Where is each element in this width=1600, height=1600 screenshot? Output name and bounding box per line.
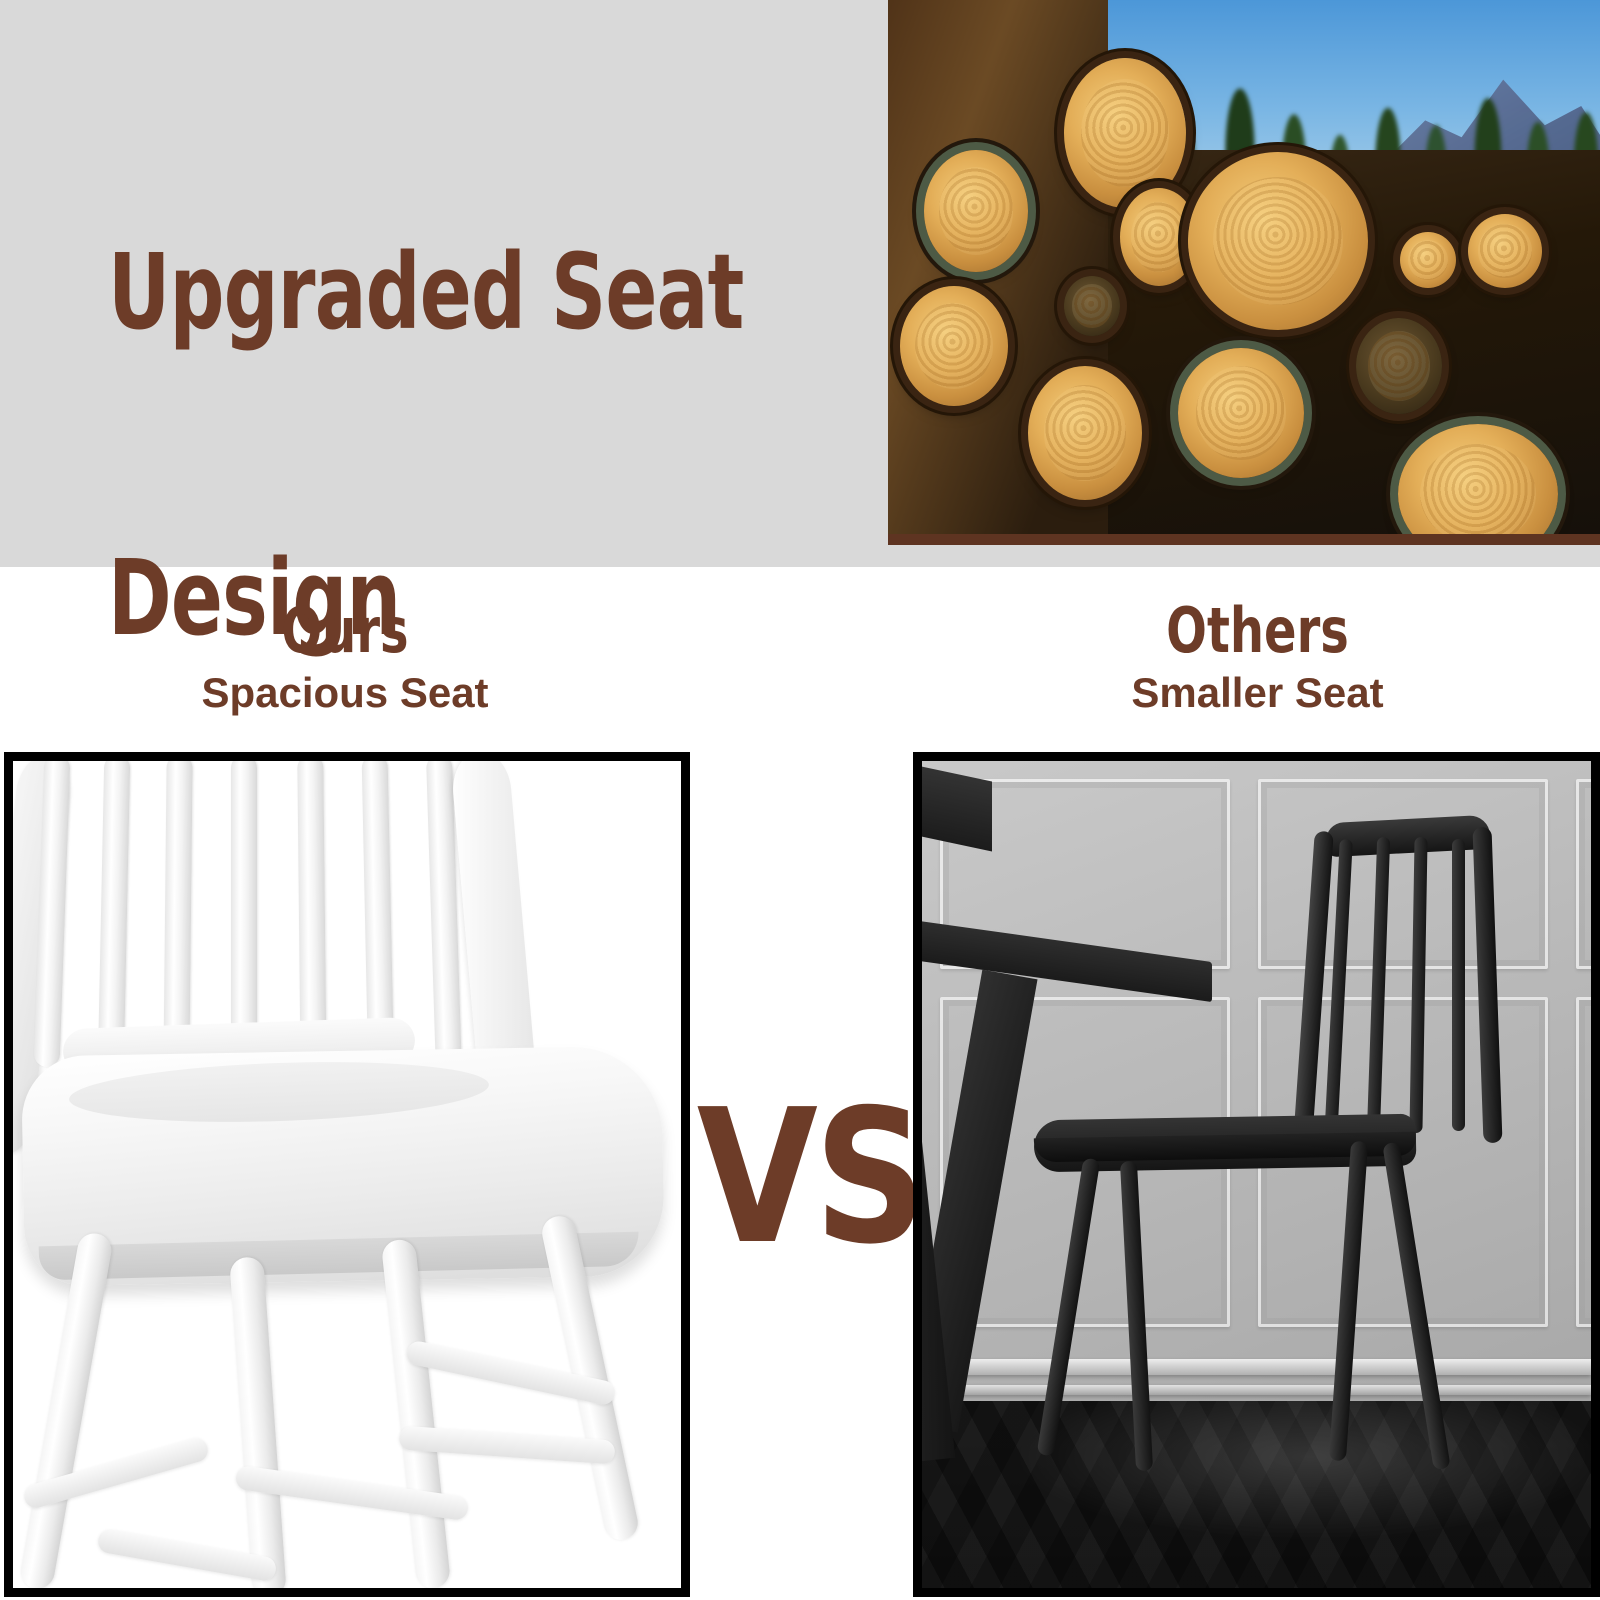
header-band: Upgraded Seat Design for Better Experien… bbox=[0, 0, 1600, 567]
log-cut-end bbox=[1120, 188, 1198, 286]
log-cut-end bbox=[1400, 232, 1456, 288]
log-cut-end bbox=[1028, 366, 1142, 500]
others-title: Others bbox=[963, 600, 1552, 662]
log-cut-end bbox=[1064, 276, 1120, 336]
chair-leg bbox=[229, 1256, 287, 1588]
log-cut-end bbox=[1188, 152, 1368, 330]
ours-subtitle: Spacious Seat bbox=[0, 672, 690, 714]
wall-moulding-panel bbox=[1258, 779, 1548, 969]
infographic-page: Upgraded Seat Design for Better Experien… bbox=[0, 0, 1600, 1600]
wall-moulding-panel bbox=[1576, 779, 1591, 969]
chair-spindle bbox=[1452, 839, 1465, 1131]
stacked-timber-logs-photo bbox=[888, 0, 1600, 545]
wall-moulding-panel bbox=[1576, 997, 1591, 1327]
black-spindle-chair-smaller-seat-photo bbox=[922, 761, 1591, 1588]
vs-label: VS bbox=[697, 1082, 909, 1272]
white-windsor-chair-spacious-seat-photo bbox=[13, 761, 681, 1588]
wall-base-rail bbox=[922, 1359, 1591, 1375]
floor-light-sheen bbox=[922, 1401, 1591, 1588]
log-cut-end bbox=[1064, 58, 1186, 208]
others-chair-image-panel bbox=[913, 752, 1600, 1597]
ours-chair-image-panel bbox=[4, 752, 690, 1597]
log-cut-end bbox=[1178, 348, 1304, 478]
chair-leg bbox=[381, 1238, 451, 1588]
log-cut-end bbox=[900, 286, 1008, 406]
ours-title: Ours bbox=[48, 600, 641, 662]
log-cut-end bbox=[1468, 214, 1542, 288]
wall-base-rail bbox=[922, 1385, 1591, 1395]
others-subtitle: Smaller Seat bbox=[915, 672, 1600, 714]
log-cut-end bbox=[1356, 318, 1442, 414]
log-cut-end bbox=[924, 150, 1028, 272]
headline-line-1: Upgraded Seat bbox=[108, 242, 748, 344]
